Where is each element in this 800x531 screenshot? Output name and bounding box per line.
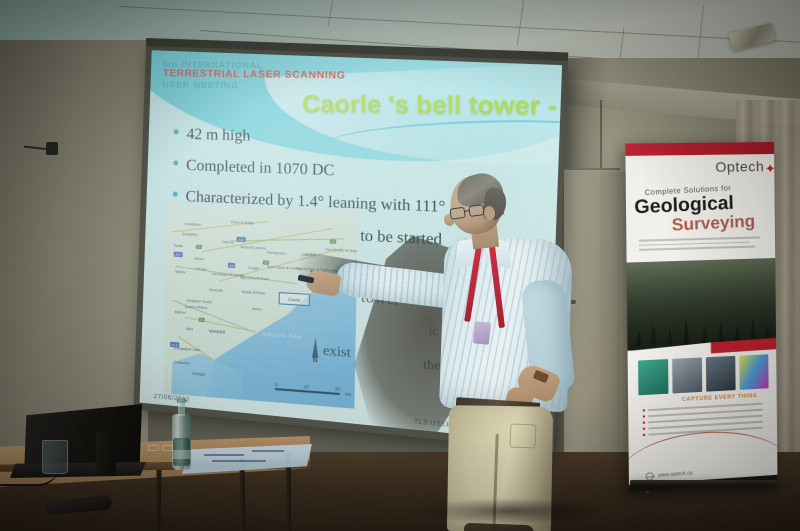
map-route-shield <box>330 239 336 243</box>
map-place-label: Latisana <box>302 252 315 257</box>
banner-landscape-photo <box>627 258 777 351</box>
trouser-pocket <box>510 424 537 449</box>
bullet-dot-icon <box>643 422 645 424</box>
optech-logo: Optech ✦ <box>715 158 764 175</box>
map-place-label: Mogliano Veneto <box>187 299 212 305</box>
map-place-label: San Donà di Piave <box>240 276 269 282</box>
map-route-shield <box>199 318 205 322</box>
map-place-label: Musile di Piave <box>242 290 265 295</box>
bullet-dot-icon <box>643 428 645 430</box>
tree-icon <box>702 327 708 343</box>
map-highlighted-town: Caorle <box>279 292 310 306</box>
map-place-label: Campagna Lupia <box>174 346 200 352</box>
tree-icon <box>764 324 770 340</box>
ghost-slide-text: exist <box>323 343 351 362</box>
wall-bracket <box>24 142 58 155</box>
bullet-dot-icon <box>643 434 645 436</box>
body-copy-line <box>639 236 760 241</box>
paper-print-line <box>252 450 284 452</box>
map-place-label: Jesolo <box>252 307 262 312</box>
banner-thumbnail <box>638 359 668 395</box>
banner-thumbnail-strip <box>638 354 769 395</box>
table-leg <box>155 470 161 531</box>
bottle-label <box>173 450 190 459</box>
bullet-dot-icon <box>643 409 645 411</box>
paper-print-line <box>212 460 266 462</box>
map-place-label: Motta di Livenza <box>240 245 265 250</box>
map-place-label: Ceggia <box>248 266 259 271</box>
map-road-number: A27 <box>174 252 183 258</box>
bullet-dot-icon <box>173 160 178 165</box>
banner-body-copy <box>639 236 765 254</box>
map-place-label: Conegliano <box>184 222 201 227</box>
desk-equipment-box <box>96 432 116 476</box>
presenter-floor-shadow <box>420 498 600 524</box>
desk-eyeglass-lens-left <box>148 445 159 451</box>
tree-icon <box>734 325 740 341</box>
tree-icon <box>750 317 756 341</box>
body-copy-line <box>639 246 755 251</box>
banner-top-bar <box>625 142 774 156</box>
map-place-label: Portogruaro <box>267 251 286 256</box>
banner-thumbnail <box>739 354 768 390</box>
ceiling-tile-line <box>697 6 704 62</box>
bullet-text: 42 m high <box>186 126 250 146</box>
compass-north-label: N <box>309 358 322 365</box>
optech-rollup-banner: Optech ✦ Complete Solutions for Geologic… <box>625 142 777 492</box>
tree-icon <box>718 322 724 342</box>
map-place-label: Roncade <box>209 288 223 293</box>
presenter-shoe <box>464 523 534 531</box>
presentation-photo-scene: 6th INTERNATIONAL TERRESTRIAL LASER SCAN… <box>0 0 800 531</box>
tree-icon <box>636 330 642 347</box>
map-place-label: Treviso <box>195 267 206 272</box>
map-route-shield <box>196 245 202 249</box>
slide-conference-header: 6th INTERNATIONAL TERRESTRIAL LASER SCAN… <box>163 60 346 92</box>
slide-map-image: A27 A28 A4 A13 Conegliano Susegana Pieve… <box>163 203 358 409</box>
paper-print-line <box>204 454 244 456</box>
map-place-label: Noale <box>174 244 183 248</box>
presenter <box>398 172 608 531</box>
conference-badge <box>473 321 491 345</box>
bullet-text: Completed in 1070 DC <box>186 157 334 181</box>
bracket-box <box>46 142 58 155</box>
tree-icon <box>650 323 656 346</box>
scale-unit-label: km <box>345 391 351 397</box>
map-place-label: Mira <box>186 327 193 331</box>
eyeglass-lens-left <box>449 207 465 220</box>
map-place-label: Venezia <box>209 328 226 334</box>
optech-logo-text: Optech <box>715 158 764 175</box>
compass-needle-icon <box>312 337 319 358</box>
banner-section-title: CAPTURE EVERY THING <box>682 393 758 403</box>
scale-tick: 10 <box>304 384 309 390</box>
banner-thumbnail <box>706 356 736 392</box>
slide-title: Caorle 's bell tower - 1 <box>302 91 562 122</box>
bullet-dot-icon <box>643 415 645 417</box>
eyeglass-lens-right <box>468 204 484 217</box>
banner-url-text: www.optech.ca <box>658 470 693 478</box>
map-road-number: A4 <box>228 263 235 268</box>
water-bottle[interactable] <box>172 398 191 470</box>
banner-headline-secondary: Surveying <box>671 211 755 235</box>
tree-icon <box>667 328 673 345</box>
map-place-label: Susegana <box>182 232 197 237</box>
scale-tick: 20 <box>335 386 340 392</box>
banner-thumbnail <box>672 357 702 393</box>
map-place-label: Mestre <box>175 270 185 275</box>
map-road <box>230 238 344 241</box>
body-copy-line <box>639 241 750 246</box>
map-place-label: Marcon <box>175 310 186 315</box>
tree-icon <box>683 317 689 344</box>
map-place-label: Quarto d'Altino <box>185 305 208 310</box>
map-place-label: Oderzo <box>222 240 233 245</box>
bullet-dot-icon <box>173 191 178 196</box>
scale-tick: 0 <box>275 382 278 387</box>
map-compass-rose: N <box>309 337 322 365</box>
map-place-label: Vittorio <box>194 257 205 262</box>
map-road-number: A28 <box>237 237 246 243</box>
banner-base-stand <box>630 480 778 486</box>
bullet-dot-icon <box>174 129 179 134</box>
